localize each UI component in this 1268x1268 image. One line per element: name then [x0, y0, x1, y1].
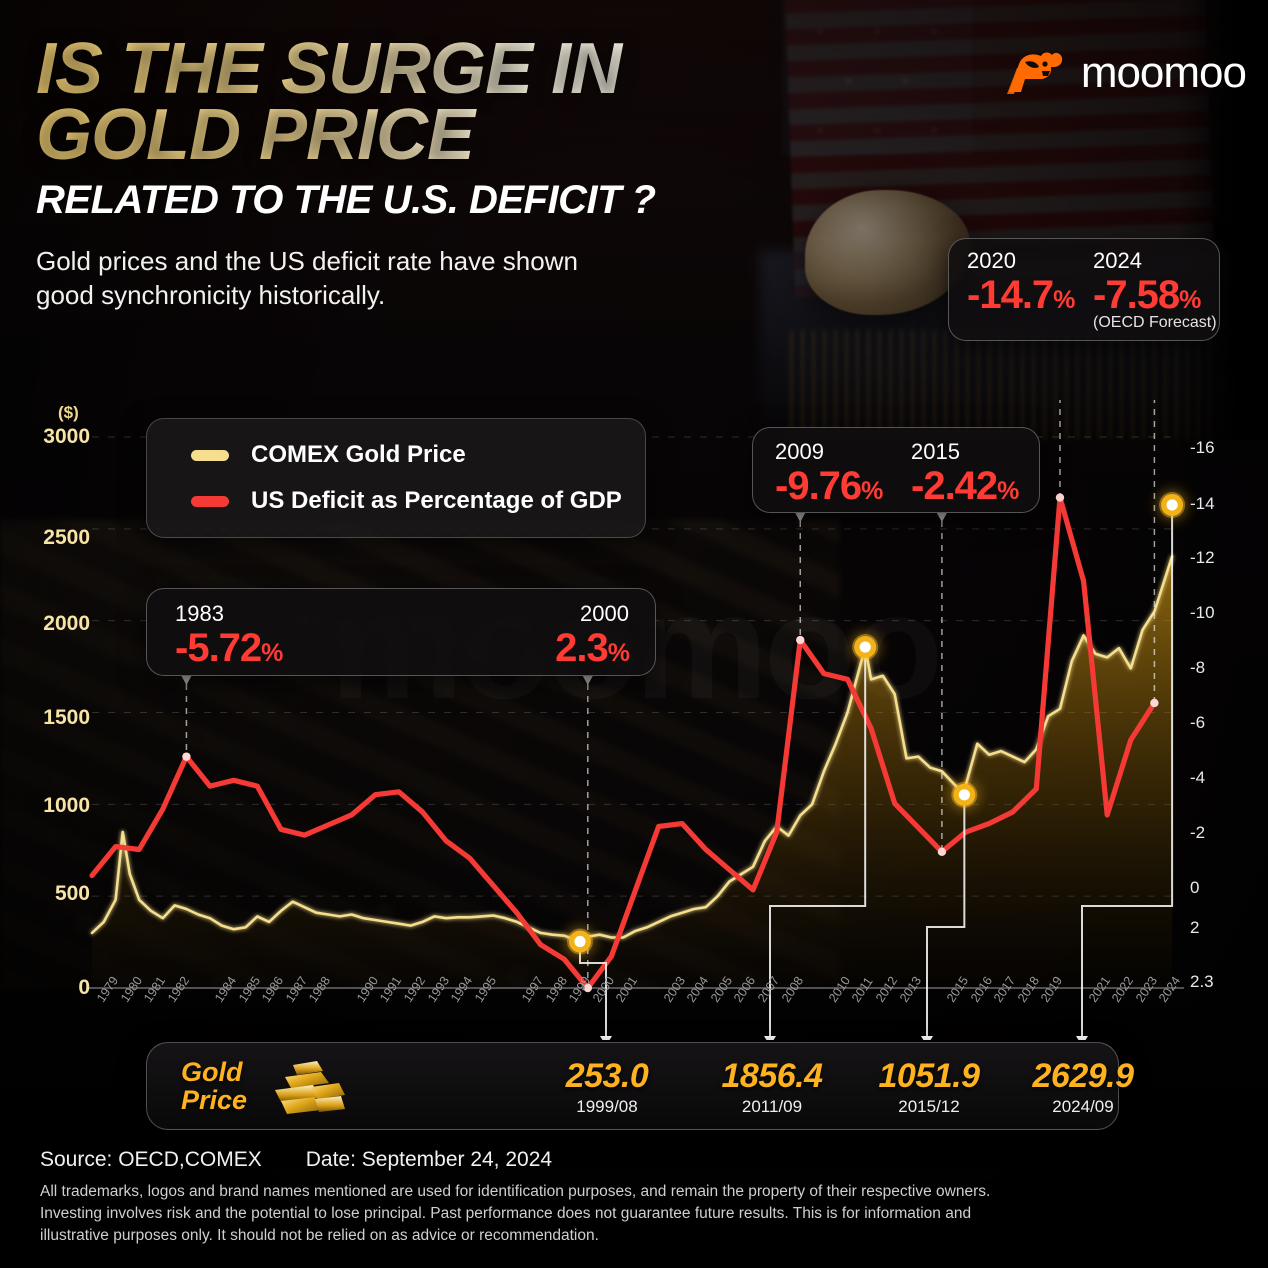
- gold-nugget-image: [805, 190, 970, 315]
- page-subtitle: Gold prices and the US deficit rate have…: [36, 245, 796, 312]
- legend-swatch-deficit: [191, 496, 229, 507]
- callout-entry-2015: 2015 -2.42%: [911, 439, 1018, 507]
- gold-price-value-2011: 1856.4: [702, 1057, 842, 1096]
- gold-price-date-2015: 2015/12: [859, 1097, 999, 1117]
- callout-year-2024: 2024: [1093, 248, 1217, 274]
- callout-1983-2000: 1983 -5.72% 2000 2.3%: [146, 588, 656, 676]
- callout-2009-2015: 2009 -9.76% 2015 -2.42%: [752, 427, 1040, 513]
- gold-price-date-2011: 2011/09: [702, 1097, 842, 1117]
- y-right-tick--6: -6: [1190, 713, 1205, 733]
- legend-item-gold: COMEX Gold Price: [191, 441, 645, 469]
- gold-price-date-1999: 1999/08: [542, 1097, 672, 1117]
- brand-logo: moomoo: [1005, 48, 1246, 98]
- y-axis-right: -16 -14 -12 -10 -8 -6 -4 -2 0 2 2.3: [1190, 400, 1260, 1040]
- gold-price-value-1999: 253.0: [542, 1057, 672, 1096]
- callout-entry-1983: 1983 -5.72%: [175, 601, 282, 669]
- y-right-tick--12: -12: [1190, 548, 1215, 568]
- callout-entry-2009: 2009 -9.76%: [775, 439, 882, 507]
- source-line: Source: OECD,COMEX Date: September 24, 2…: [40, 1148, 1240, 1172]
- callout-value-1983: -5.72%: [175, 627, 282, 669]
- callout-year-1983: 1983: [175, 601, 282, 627]
- y-left-tick-1500: 1500: [43, 706, 90, 730]
- page-title-primary: IS THE SURGE IN GOLD PRICE: [36, 36, 796, 168]
- callout-year-2020: 2020: [967, 248, 1074, 274]
- footer-block: Source: OECD,COMEX Date: September 24, 2…: [40, 1148, 1240, 1247]
- callout-value-2009: -9.76%: [775, 465, 882, 507]
- callout-2020-2024: 2020 -14.7% 2024 -7.58% (OECD Forecast): [948, 238, 1220, 341]
- page-title-secondary: RELATED TO THE U.S. DEFICIT ?: [36, 178, 796, 223]
- y-right-tick--14: -14: [1190, 494, 1215, 514]
- gold-price-point-2024: 2629.9 2024/09: [1013, 1057, 1153, 1117]
- date-label: Date: September 24, 2024: [306, 1148, 552, 1172]
- y-right-tick-2: 2: [1190, 918, 1199, 938]
- disclaimer-text: All trademarks, logos and brand names me…: [40, 1181, 1240, 1247]
- y-right-tick--4: -4: [1190, 768, 1205, 788]
- callout-year-2000: 2000: [539, 601, 629, 627]
- us-flag-canton: [782, 0, 972, 155]
- bull-icon: [1005, 50, 1067, 96]
- callout-value-2024: -7.58%: [1093, 274, 1217, 316]
- callout-entry-2024: 2024 -7.58% (OECD Forecast): [1093, 248, 1217, 332]
- infographic-root: moomoo IS THE SURGE IN GOLD PRICE RELATE…: [0, 0, 1268, 1268]
- gold-price-bar-title: Gold Price: [181, 1058, 247, 1115]
- gold-price-point-2015: 1051.9 2015/12: [859, 1057, 999, 1117]
- gold-price-point-2011: 1856.4 2011/09: [702, 1057, 842, 1117]
- gold-price-value-2015: 1051.9: [859, 1057, 999, 1096]
- callout-value-2000: 2.3%: [539, 627, 629, 669]
- gold-price-value-2024: 2629.9: [1013, 1057, 1153, 1096]
- brand-name: moomoo: [1081, 48, 1246, 98]
- chart-legend: COMEX Gold Price US Deficit as Percentag…: [146, 418, 646, 538]
- callout-year-2015: 2015: [911, 439, 1018, 465]
- callout-value-2020: -14.7%: [967, 274, 1074, 316]
- y-right-tick-0: 0: [1190, 878, 1199, 898]
- gold-price-summary-bar: Gold Price 253.0: [146, 1042, 1119, 1130]
- gold-price-date-2024: 2024/09: [1013, 1097, 1153, 1117]
- legend-label-deficit: US Deficit as Percentage of GDP: [251, 487, 622, 515]
- y-right-tick--16: -16: [1190, 438, 1215, 458]
- y-left-tick-1000: 1000: [43, 794, 90, 818]
- y-axis-left: 3000 2500 2000 1500 1000 500 0: [0, 400, 90, 1040]
- y-right-tick-2.3: 2.3: [1190, 972, 1214, 992]
- callout-value-2015: -2.42%: [911, 465, 1018, 507]
- y-left-tick-500: 500: [55, 882, 90, 906]
- legend-label-gold: COMEX Gold Price: [251, 441, 466, 469]
- callout-entry-2000: 2000 2.3%: [539, 601, 629, 669]
- y-right-tick--10: -10: [1190, 603, 1215, 623]
- callout-year-2009: 2009: [775, 439, 882, 465]
- header-block: IS THE SURGE IN GOLD PRICE RELATED TO TH…: [36, 36, 796, 312]
- y-left-tick-3000: 3000: [43, 425, 90, 449]
- callout-entry-2020: 2020 -14.7%: [967, 248, 1074, 316]
- y-right-tick--2: -2: [1190, 823, 1205, 843]
- callout-note-2024: (OECD Forecast): [1093, 314, 1217, 332]
- legend-swatch-gold: [191, 450, 229, 461]
- source-label: Source: OECD,COMEX: [40, 1148, 262, 1172]
- y-left-tick-0: 0: [78, 976, 90, 1000]
- gold-price-point-1999: 253.0 1999/08: [542, 1057, 672, 1117]
- legend-item-deficit: US Deficit as Percentage of GDP: [191, 487, 645, 515]
- y-left-tick-2000: 2000: [43, 612, 90, 636]
- y-right-tick--8: -8: [1190, 658, 1205, 678]
- y-left-tick-2500: 2500: [43, 526, 90, 550]
- gold-bars-icon: [261, 1055, 347, 1117]
